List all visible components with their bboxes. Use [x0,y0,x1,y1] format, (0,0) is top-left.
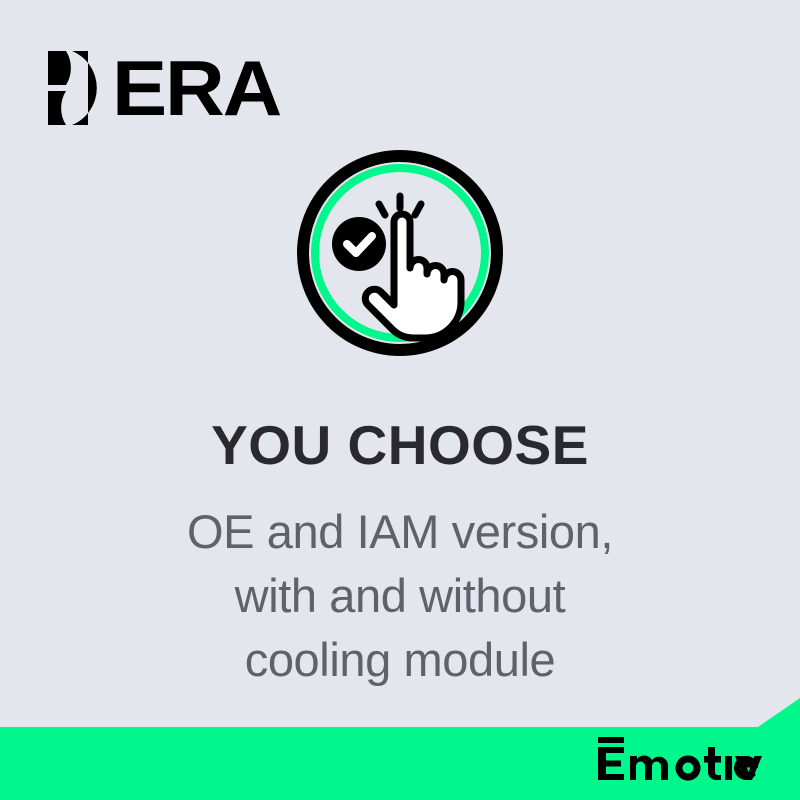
subtitle-line-3: cooling module [0,628,800,692]
era-d-mark-icon [48,49,106,127]
emotive-logo-icon [596,732,764,784]
poster-canvas: ERA YOU CHOOSE [0,0,800,800]
page-subtitle: OE and IAM version, with and without coo… [0,500,800,692]
brand-logo: ERA [48,48,271,128]
footer-band [0,690,800,800]
subtitle-line-2: with and without [0,564,800,628]
brand-wordmark: ERA [112,49,280,127]
click-hand-check-circle-icon [297,150,503,356]
checkmark-badge-icon [332,217,386,271]
subtitle-line-1: OE and IAM version, [0,500,800,564]
page-title: YOU CHOOSE [0,414,800,476]
